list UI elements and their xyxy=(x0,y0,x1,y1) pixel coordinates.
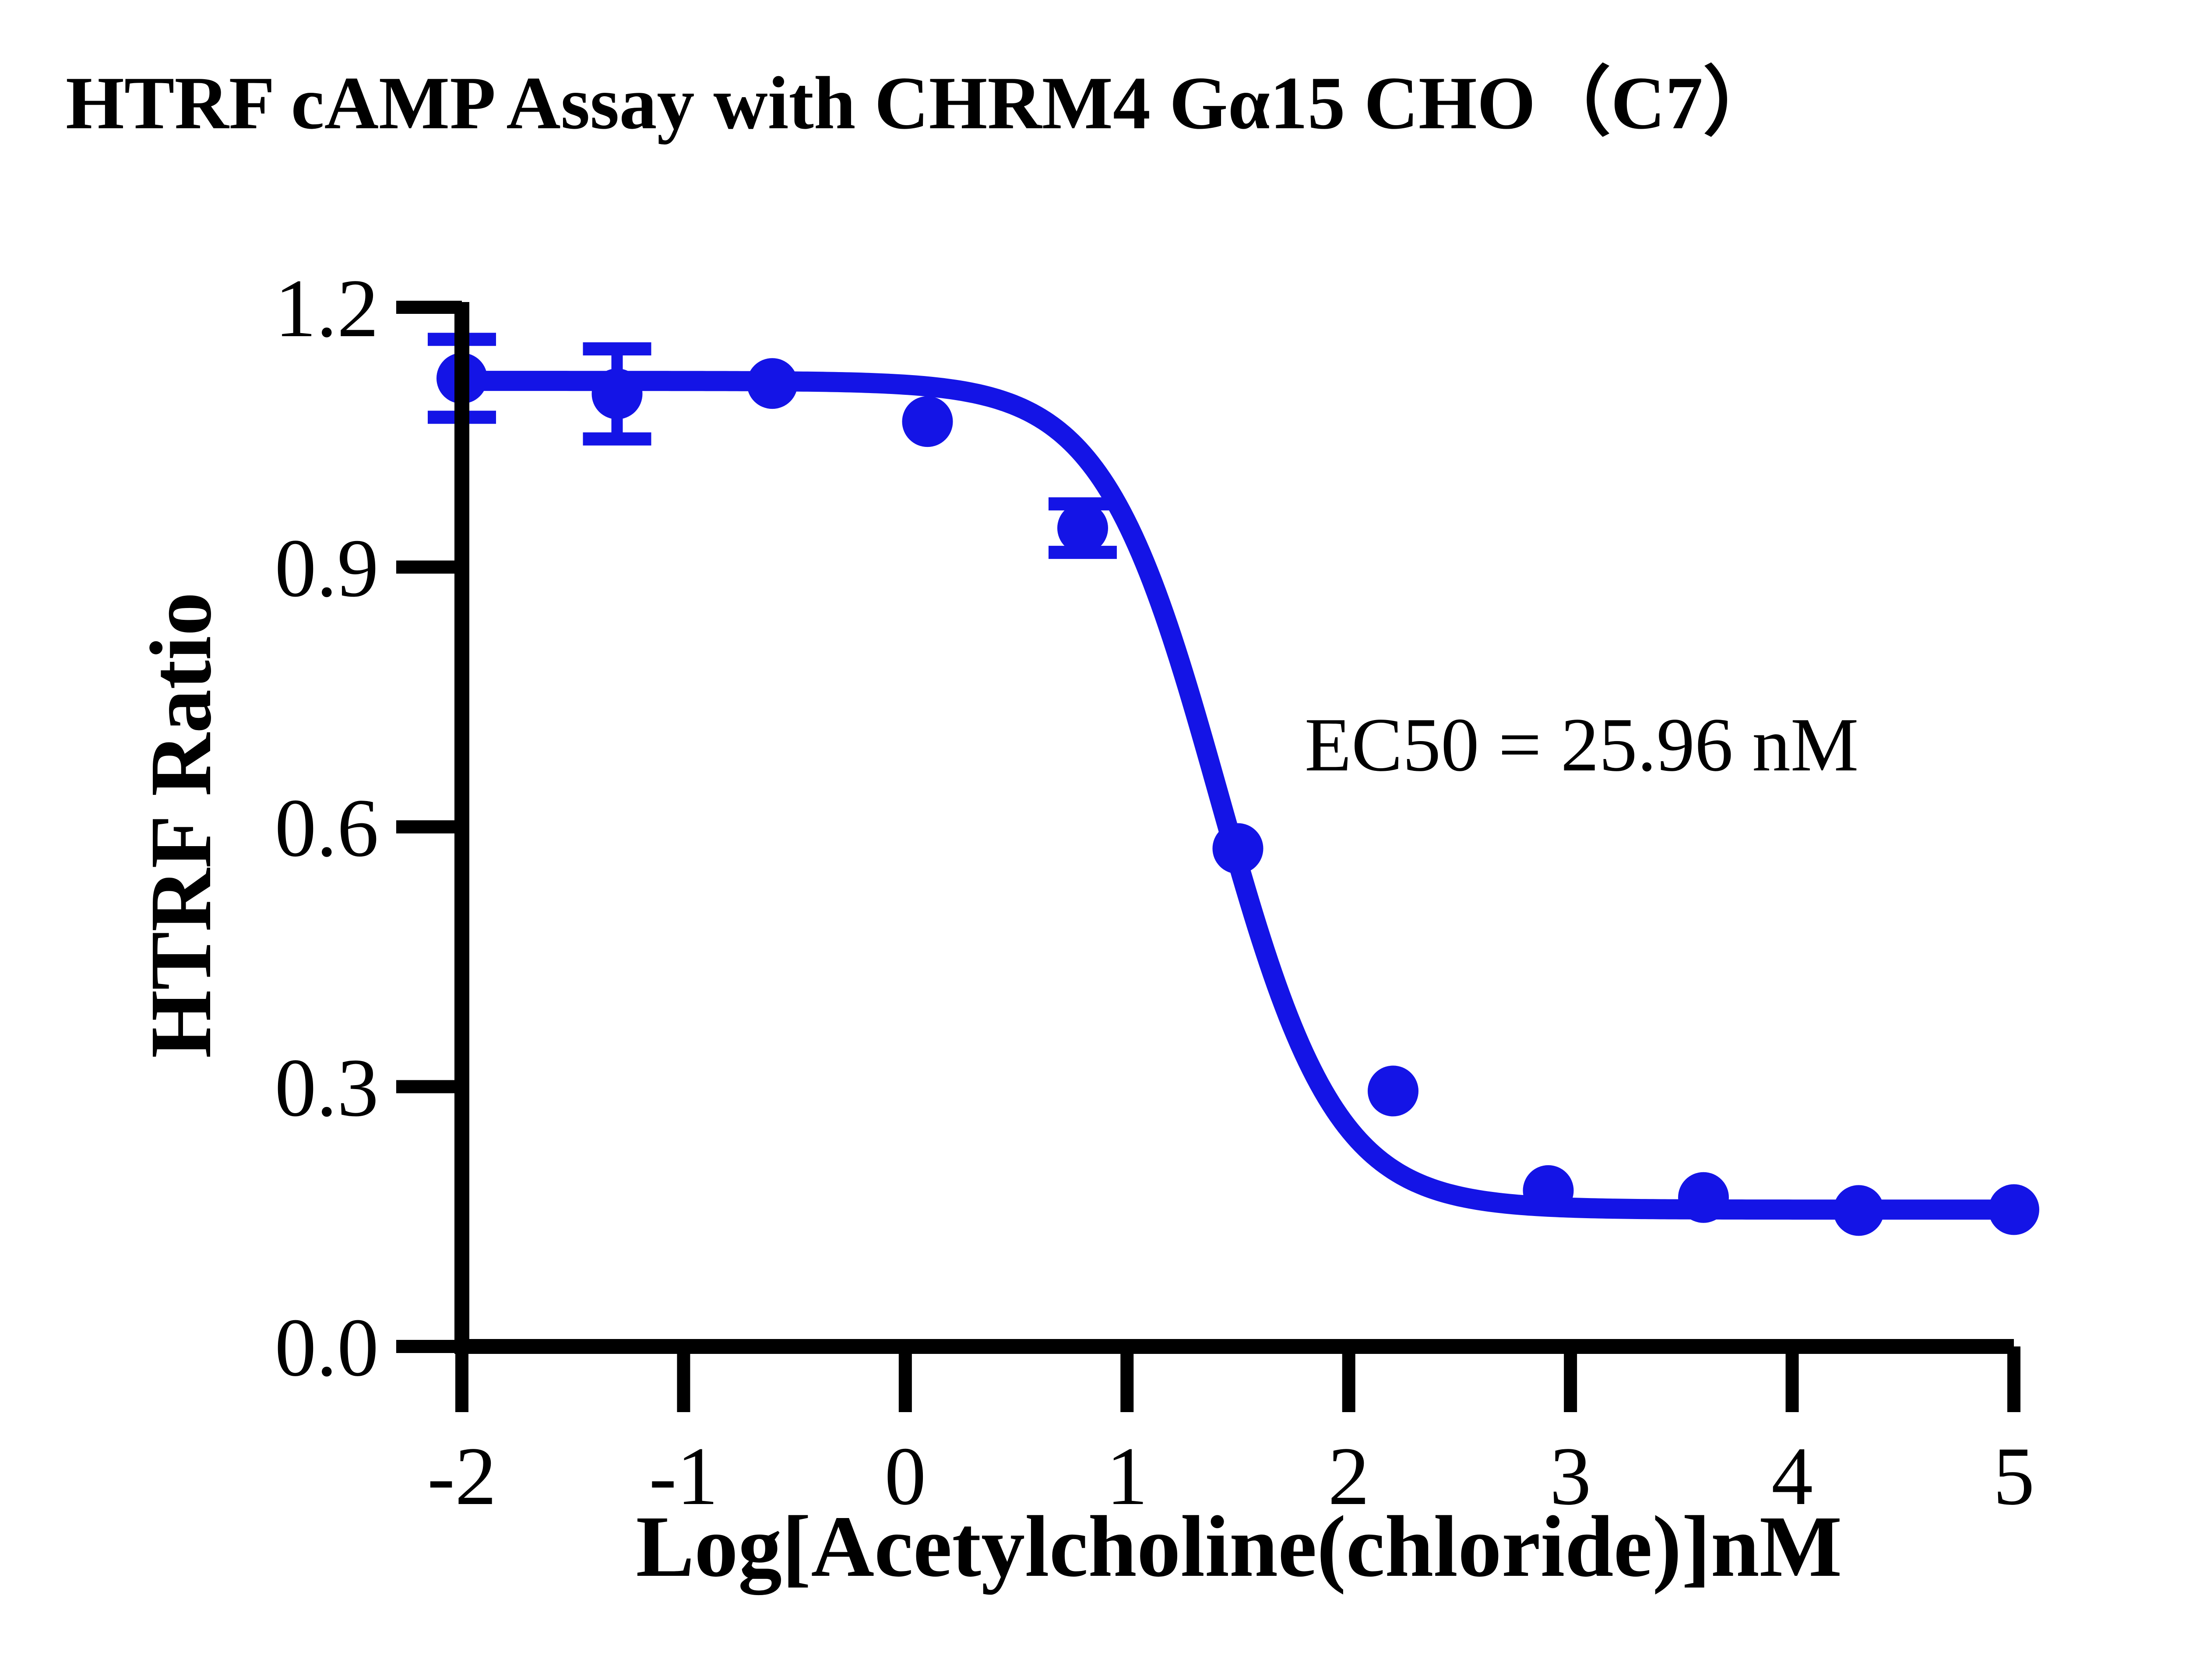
plot-area: 0.00.30.60.91.2 -2-1012345 HTRF Ratio Lo… xyxy=(0,0,2189,1680)
fit-curve-path xyxy=(462,381,2014,1209)
y-axis-title: HTRF Ratio xyxy=(133,592,229,1058)
y-tick-label: 1.2 xyxy=(275,263,379,355)
x-tick-label: -2 xyxy=(427,1430,496,1522)
x-axis-ticks xyxy=(462,1346,2014,1412)
data-point xyxy=(1988,1184,2039,1235)
data-point xyxy=(1213,823,1263,874)
data-point xyxy=(747,358,798,409)
x-tick-label: 5 xyxy=(1993,1430,2035,1522)
data-point xyxy=(902,396,953,447)
data-point xyxy=(1368,1065,1418,1116)
data-point xyxy=(1678,1172,1729,1223)
fit-curve xyxy=(462,381,2014,1209)
y-axis-tick-labels: 0.00.30.60.91.2 xyxy=(275,263,379,1394)
y-tick-label: 0.3 xyxy=(275,1042,379,1134)
data-point xyxy=(592,369,643,419)
y-tick-label: 0.0 xyxy=(275,1302,379,1394)
data-points xyxy=(436,353,2039,1236)
data-point xyxy=(1523,1165,1574,1216)
y-tick-label: 0.9 xyxy=(275,523,379,615)
data-point xyxy=(1057,503,1108,553)
data-point xyxy=(1834,1185,1884,1236)
y-tick-label: 0.6 xyxy=(275,782,379,874)
chart-figure: HTRF cAMP Assay with CHRM4 Gα15 CHO（C7） … xyxy=(0,0,2189,1680)
x-axis-title: Log[Acetylcholine(chloride)]nM xyxy=(636,1498,1842,1595)
ec50-annotation: EC50 = 25.96 nM xyxy=(1305,702,1858,787)
y-axis-ticks xyxy=(396,307,462,1346)
